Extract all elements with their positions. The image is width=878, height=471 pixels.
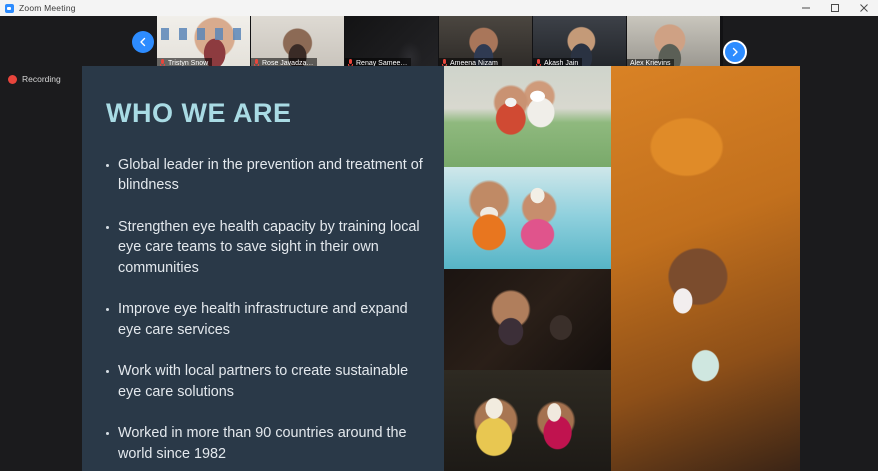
slide-bullet: Improve eye health infrastructure and ex… [106,299,426,340]
chevron-left-icon [137,36,149,48]
slide-text-column: WHO WE ARE Global leader in the preventi… [82,66,444,471]
meeting-stage: Tristyn Snow Rose Javadza… Renay Samee… … [0,16,878,471]
zoom-camera-icon [5,4,14,13]
collage-photo [444,66,611,167]
filmstrip-prev-button[interactable] [132,31,154,53]
slide-title: WHO WE ARE [106,98,426,129]
close-icon[interactable] [849,0,878,16]
participant-thumbnail[interactable]: Renay Samee… [345,16,438,68]
recording-label: Recording [22,74,61,84]
collage-photo [444,167,611,268]
slide-bullet-text: Improve eye health infrastructure and ex… [118,299,426,340]
participant-thumbnail[interactable]: Ameena Nizam [439,16,532,68]
slide-photo-collage [444,66,800,471]
bullet-dot-icon [106,308,109,311]
slide-bullet: Work with local partners to create susta… [106,361,426,402]
window-controls [791,0,878,16]
participant-filmstrip[interactable]: Tristyn Snow Rose Javadza… Renay Samee… … [157,16,723,68]
collage-photo [444,370,611,471]
slide-bullet-text: Worked in more than 90 countries around … [118,423,426,464]
slide-bullet-text: Strengthen eye health capacity by traini… [118,217,426,278]
collage-photo-main [611,66,800,471]
bullet-dot-icon [106,226,109,229]
maximize-icon[interactable] [820,0,849,16]
bullet-dot-icon [106,370,109,373]
bullet-dot-icon [106,164,109,167]
participant-thumbnail[interactable]: Alex Krievins [627,16,720,68]
slide-bullet: Worked in more than 90 countries around … [106,423,426,464]
slide-bullet-text: Global leader in the prevention and trea… [118,155,426,196]
participant-thumbnail[interactable]: Tristyn Snow [157,16,250,68]
collage-photo [444,269,611,370]
minimize-icon[interactable] [791,0,820,16]
shared-screen-slide: WHO WE ARE Global leader in the preventi… [82,66,800,471]
slide-bullet: Global leader in the prevention and trea… [106,155,426,196]
recording-indicator[interactable]: Recording [8,74,61,84]
window-title-bar: Zoom Meeting [0,0,878,16]
filmstrip-next-button[interactable] [723,40,747,64]
window-title: Zoom Meeting [19,3,76,13]
participant-thumbnail[interactable]: Rose Javadza… [251,16,344,68]
slide-bullet: Strengthen eye health capacity by traini… [106,217,426,278]
chevron-right-icon [729,46,741,58]
participant-thumbnail[interactable]: Akash Jain [533,16,626,68]
bullet-dot-icon [106,432,109,435]
collage-left-column [444,66,611,471]
recording-dot-icon [8,75,17,84]
slide-bullet-text: Work with local partners to create susta… [118,361,426,402]
